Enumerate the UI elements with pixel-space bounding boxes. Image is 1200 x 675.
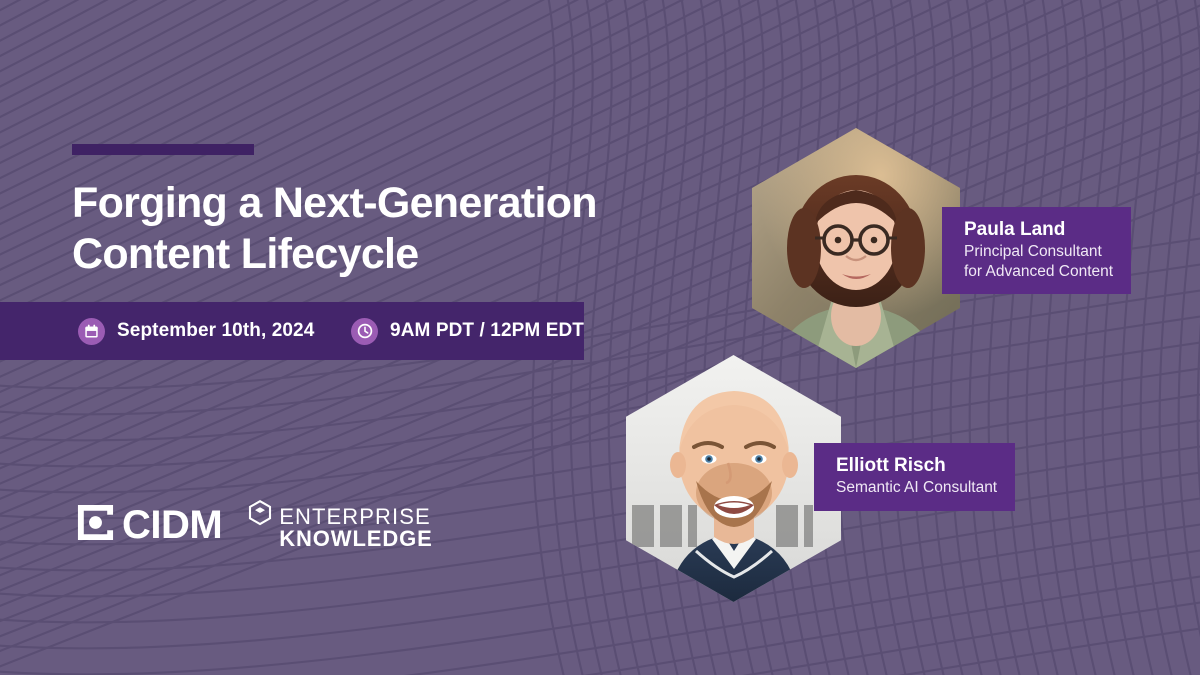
hexagon-photo-frame bbox=[626, 355, 841, 602]
ek-line-2: KNOWLEDGE bbox=[279, 528, 433, 550]
event-date: September 10th, 2024 bbox=[78, 318, 314, 345]
speaker-photo-paula bbox=[752, 128, 960, 368]
logo-row: CIDM ENTERPRISE KNOWLEDGE bbox=[76, 500, 433, 551]
title-line-1: Forging a Next-Generation bbox=[72, 178, 712, 229]
title-block: Forging a Next-Generation Content Lifecy… bbox=[72, 144, 712, 279]
speaker-photo-elliott bbox=[626, 355, 841, 602]
hexagon-photo-frame bbox=[752, 128, 960, 368]
ek-line-1: ENTERPRISE bbox=[279, 506, 433, 528]
speaker-name: Paula Land bbox=[964, 219, 1113, 242]
logo-enterprise-knowledge: ENTERPRISE KNOWLEDGE bbox=[248, 500, 433, 551]
speaker-role-line-1: Semantic AI Consultant bbox=[836, 478, 997, 498]
page-title: Forging a Next-Generation Content Lifecy… bbox=[72, 178, 712, 279]
speaker-role-line-1: Principal Consultant bbox=[964, 242, 1113, 262]
event-time-text: 9AM PDT / 12PM EDT bbox=[390, 320, 584, 342]
speaker-role-line-2: for Advanced Content bbox=[964, 262, 1113, 282]
nameplate-paula: Paula Land Principal Consultant for Adva… bbox=[942, 207, 1131, 294]
nameplate-elliott: Elliott Risch Semantic AI Consultant bbox=[814, 443, 1015, 511]
cidm-bracket-dot-icon bbox=[76, 503, 115, 547]
event-time: 9AM PDT / 12PM EDT bbox=[351, 318, 584, 345]
hexagon-icon bbox=[248, 500, 272, 532]
event-date-text: September 10th, 2024 bbox=[117, 320, 314, 342]
accent-bar bbox=[72, 144, 254, 155]
clock-icon bbox=[351, 318, 378, 345]
title-line-2: Content Lifecycle bbox=[72, 229, 712, 280]
ek-wordmark: ENTERPRISE KNOWLEDGE bbox=[279, 500, 433, 551]
speaker-name: Elliott Risch bbox=[836, 455, 997, 478]
cidm-wordmark: CIDM bbox=[122, 505, 222, 545]
calendar-icon bbox=[78, 318, 105, 345]
event-details-bar: September 10th, 2024 9AM PDT / 12PM EDT bbox=[0, 302, 584, 360]
logo-cidm: CIDM bbox=[76, 503, 222, 547]
